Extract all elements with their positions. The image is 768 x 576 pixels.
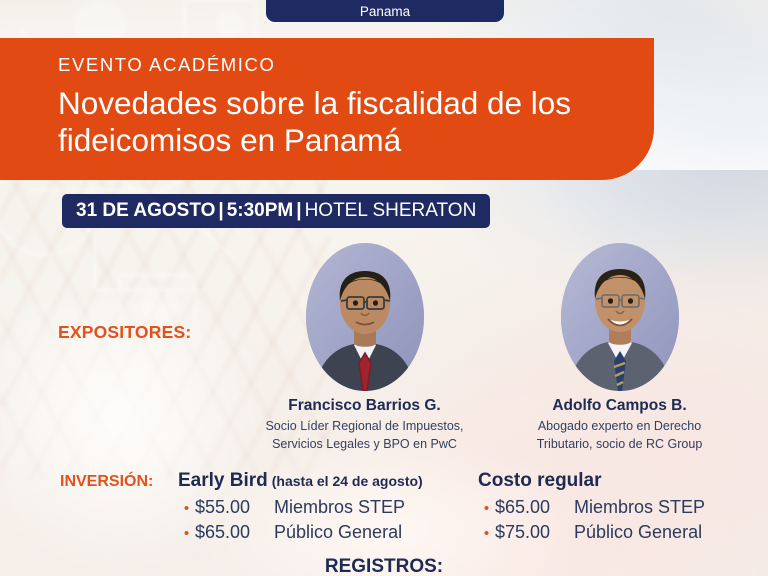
- speaker-role-line-1: Socio Líder Regional de Impuestos,: [232, 418, 497, 434]
- pricing-audience: Miembros STEP: [267, 495, 405, 521]
- pricing-item: • $65.00 Público General: [178, 520, 478, 546]
- pricing-amount: $65.00: [195, 520, 267, 546]
- pricing-heading-text: Costo regular: [478, 470, 602, 491]
- pricing-heading: Early Bird(hasta el 24 de agosto): [178, 470, 478, 492]
- event-details-bar: 31 DE AGOSTO | 5:30PM | HOTEL SHERATON: [62, 194, 490, 228]
- speaker-name: Adolfo Campos B.: [487, 397, 752, 416]
- pricing-audience: Público General: [267, 520, 402, 546]
- pricing-amount: $55.00: [195, 495, 267, 521]
- pricing-heading-text: Early Bird: [178, 470, 268, 491]
- brand-tab-label: Panama: [360, 5, 410, 19]
- header-banner: EVENTO ACADÉMICO Novedades sobre la fisc…: [0, 38, 654, 180]
- pricing-heading: Costo regular: [478, 470, 768, 492]
- event-flyer: Panama EVENTO ACADÉMICO Novedades sobre …: [0, 0, 768, 576]
- speaker-card-adolfo-campos: Adolfo Campos B. Abogado experto en Dere…: [487, 243, 752, 452]
- pricing-item: • $75.00 Público General: [478, 520, 768, 546]
- date-separator-2: |: [293, 200, 304, 222]
- bullet-icon: •: [178, 526, 195, 541]
- pricing-section-label: INVERSIÓN:: [60, 473, 153, 491]
- bullet-icon: •: [478, 526, 495, 541]
- pricing-audience: Miembros STEP: [567, 495, 705, 521]
- pricing-heading-note: (hasta el 24 de agosto): [268, 473, 423, 489]
- speaker-card-francisco-barrios: Francisco Barrios G. Socio Líder Regiona…: [232, 243, 497, 452]
- registration-label: REGISTROS:: [0, 556, 768, 576]
- pricing-audience: Público General: [567, 520, 702, 546]
- event-date: 31 DE AGOSTO: [76, 200, 215, 222]
- bullet-icon: •: [478, 501, 495, 516]
- speaker-photo-wrap: [232, 243, 497, 391]
- speakers-section-label: EXPOSITORES:: [58, 322, 191, 343]
- event-venue: HOTEL SHERATON: [305, 200, 477, 222]
- pricing-amount: $65.00: [495, 495, 567, 521]
- speaker-portrait-adolfo-campos: [561, 243, 679, 391]
- speaker-photo-wrap: [487, 243, 752, 391]
- pricing-item: • $65.00 Miembros STEP: [478, 495, 768, 521]
- event-kicker: EVENTO ACADÉMICO: [58, 54, 654, 76]
- speaker-name: Francisco Barrios G.: [232, 397, 497, 416]
- pricing-item: • $55.00 Miembros STEP: [178, 495, 478, 521]
- pricing-amount: $75.00: [495, 520, 567, 546]
- pricing-column-regular: Costo regular • $65.00 Miembros STEP • $…: [478, 470, 768, 546]
- speaker-role-line-2: Tributario, socio de RC Group: [487, 436, 752, 452]
- event-time: 5:30PM: [227, 200, 294, 222]
- date-separator-1: |: [215, 200, 226, 222]
- bullet-icon: •: [178, 501, 195, 516]
- pricing-list: • $55.00 Miembros STEP • $65.00 Público …: [178, 495, 478, 546]
- pricing-column-early-bird: Early Bird(hasta el 24 de agosto) • $55.…: [178, 470, 478, 546]
- speaker-role-line-1: Abogado experto en Derecho: [487, 418, 752, 434]
- event-title: Novedades sobre la fiscalidad de los fid…: [58, 85, 618, 159]
- speaker-role-line-2: Servicios Legales y BPO en PwC: [232, 436, 497, 452]
- pricing-list: • $65.00 Miembros STEP • $75.00 Público …: [478, 495, 768, 546]
- brand-tab: Panama: [266, 0, 504, 22]
- speaker-portrait-francisco-barrios: [306, 243, 424, 391]
